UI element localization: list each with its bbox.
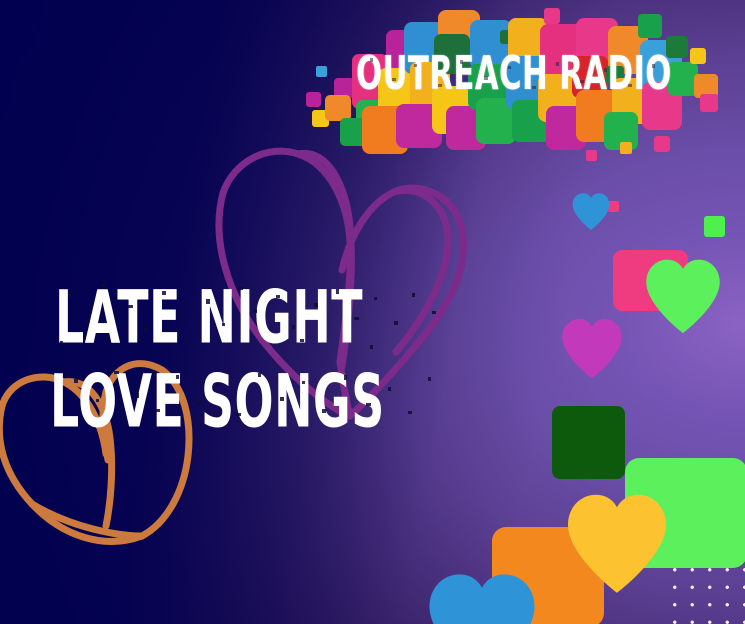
banner-title: OUTREACH RADIO bbox=[356, 51, 745, 95]
poster-canvas: OUTREACH RADIO LATE NIGHT LOVE SONGS bbox=[0, 0, 745, 624]
banner-title-text: OUTREACH RADIO bbox=[356, 51, 672, 98]
